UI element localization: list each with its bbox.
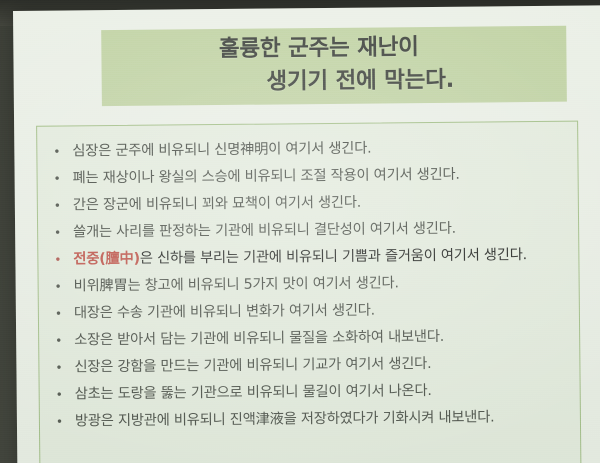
- slide-title: 훌륭한 군주는 재난이 생기기 전에 막는다.: [101, 30, 567, 100]
- slide-content-box: 심장은 군주에 비유되니 신명神明이 여기서 생긴다.폐는 재상이나 왕실의 스…: [36, 121, 581, 463]
- bullet-item: 폐는 재상이나 왕실의 스승에 비유되니 조절 작용이 여기서 생긴다.: [49, 162, 569, 192]
- bullet-item: 심장은 군주에 비유되니 신명神明이 여기서 생긴다.: [49, 135, 569, 165]
- bullet-text: 소장은 받아서 담는 기관에 비유되니 물질을 소화하여 내보낸다.: [74, 329, 444, 349]
- bullet-item: 방광은 지방관에 비유되니 진액津液을 저장하였다가 기화시켜 내보낸다.: [52, 405, 572, 435]
- bullet-text: 대장은 수송 기관에 비유되니 변화가 여기서 생긴다.: [74, 303, 375, 322]
- bullet-text: 쓸개는 사리를 판정하는 기관에 비유되니 결단성이 여기서 생긴다.: [73, 221, 456, 241]
- bullet-item: 간은 장군에 비유되니 꾀와 묘책이 여기서 생긴다.: [50, 189, 570, 219]
- bullet-text: 방광은 지방관에 비유되니 진액津液을 저장하였다가 기화시켜 내보낸다.: [75, 409, 495, 429]
- bullet-text: 신장은 강함을 만드는 기관에 비유되니 기교가 여기서 생긴다.: [74, 356, 431, 375]
- bullet-text: 삼초는 도랑을 뚫는 기관으로 비유되니 물길이 여기서 나온다.: [75, 383, 432, 402]
- bullet-text: 비위脾胃는 창고에 비유되니 5가지 맛이 여기서 생긴다.: [74, 275, 399, 294]
- slide-title-line-1: 훌륭한 군주는 재난이: [101, 30, 566, 67]
- projection-screen: 훌륭한 군주는 재난이 생기기 전에 막는다. 심장은 군주에 비유되니 신명神…: [13, 5, 600, 463]
- bullet-list: 심장은 군주에 비유되니 신명神明이 여기서 생긴다.폐는 재상이나 왕실의 스…: [49, 135, 572, 437]
- bullet-item: 신장은 강함을 만드는 기관에 비유되니 기교가 여기서 생긴다.: [51, 351, 571, 381]
- bullet-item: 삼초는 도랑을 뚫는 기관으로 비유되니 물길이 여기서 나온다.: [52, 378, 572, 408]
- bullet-item: 소장은 받아서 담는 기관에 비유되니 물질을 소화하여 내보낸다.: [51, 324, 571, 354]
- bullet-item: 대장은 수송 기관에 비유되니 변화가 여기서 생긴다.: [51, 297, 571, 327]
- bullet-text: 심장은 군주에 비유되니 신명神明이 여기서 생긴다.: [72, 141, 371, 160]
- bullet-item: 비위脾胃는 창고에 비유되니 5가지 맛이 여기서 생긴다.: [51, 270, 571, 300]
- slide-title-band: 훌륭한 군주는 재난이 생기기 전에 막는다.: [101, 26, 567, 106]
- bullet-text: 간은 장군에 비유되니 꾀와 묘책이 여기서 생긴다.: [73, 195, 361, 214]
- bullet-text: 은 신하를 부리는 기관에 비유되니 기쁨과 즐거움이 여기서 생긴다.: [140, 247, 527, 267]
- screenshot-stage: 훌륭한 군주는 재난이 생기기 전에 막는다. 심장은 군주에 비유되니 신명神…: [0, 0, 600, 463]
- bullet-text: 폐는 재상이나 왕실의 스승에 비유되니 조절 작용이 여기서 생긴다.: [73, 167, 460, 187]
- bullet-item: 쓸개는 사리를 판정하는 기관에 비유되니 결단성이 여기서 생긴다.: [50, 216, 570, 246]
- slide-title-line-2: 생기기 전에 막는다.: [102, 63, 567, 100]
- bullet-accent-term: 전중(膻中): [73, 251, 140, 268]
- bullet-item: 전중(膻中)은 신하를 부리는 기관에 비유되니 기쁨과 즐거움이 여기서 생긴…: [50, 243, 570, 273]
